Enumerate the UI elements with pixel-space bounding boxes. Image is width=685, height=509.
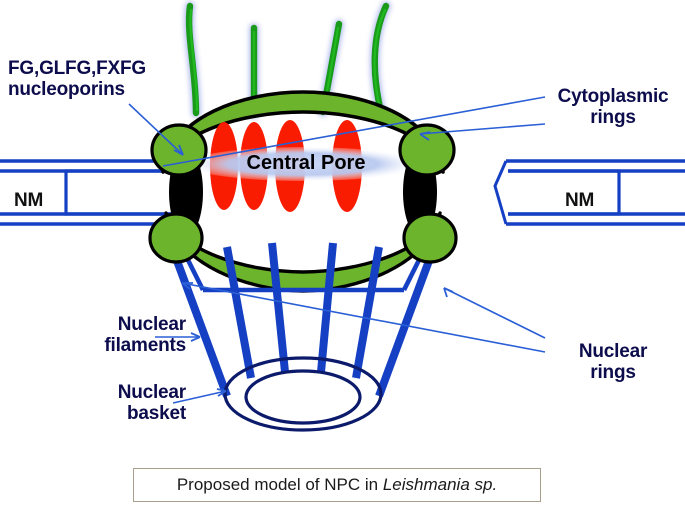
label-cytoplasmic-rings: Cytoplasmic rings: [549, 86, 677, 129]
basket-outer-ring: [225, 358, 381, 430]
basket-filament: [272, 243, 285, 372]
label-fg-nucleoporins: FG,GLFG,FXFG nucleoporins: [8, 58, 146, 101]
label-nuclear-rings: Nuclear rings: [549, 341, 677, 384]
label-nuclear-filaments: Nuclear filaments: [40, 314, 186, 357]
basket-filament: [379, 258, 430, 396]
figure-caption-box: Proposed model of NPC in Leishmania sp.: [133, 468, 541, 502]
caption-species: Leishmania sp.: [383, 475, 497, 494]
label-nuclear-basket: Nuclear basket: [40, 382, 186, 425]
leader-nuclear-rings-b: [444, 288, 545, 338]
nuclear-basket-rings: [225, 358, 381, 430]
nuclear-ring-knob-right: [404, 214, 456, 262]
nuclear-ring-arc: [166, 213, 440, 291]
basket-filament: [321, 243, 333, 372]
figure-caption: Proposed model of NPC in Leishmania sp.: [177, 475, 497, 495]
label-nm-right: NM: [565, 190, 594, 211]
label-central-pore: Central Pore: [196, 152, 416, 175]
label-nm-left: NM: [14, 190, 43, 211]
npc-diagram: FG,GLFG,FXFG nucleoporins Cytoplasmic ri…: [0, 0, 685, 509]
nuclear-ring-knob-left: [150, 214, 202, 262]
caption-prefix: Proposed model of NPC in: [177, 475, 383, 494]
basket-inner-ring: [246, 371, 360, 423]
